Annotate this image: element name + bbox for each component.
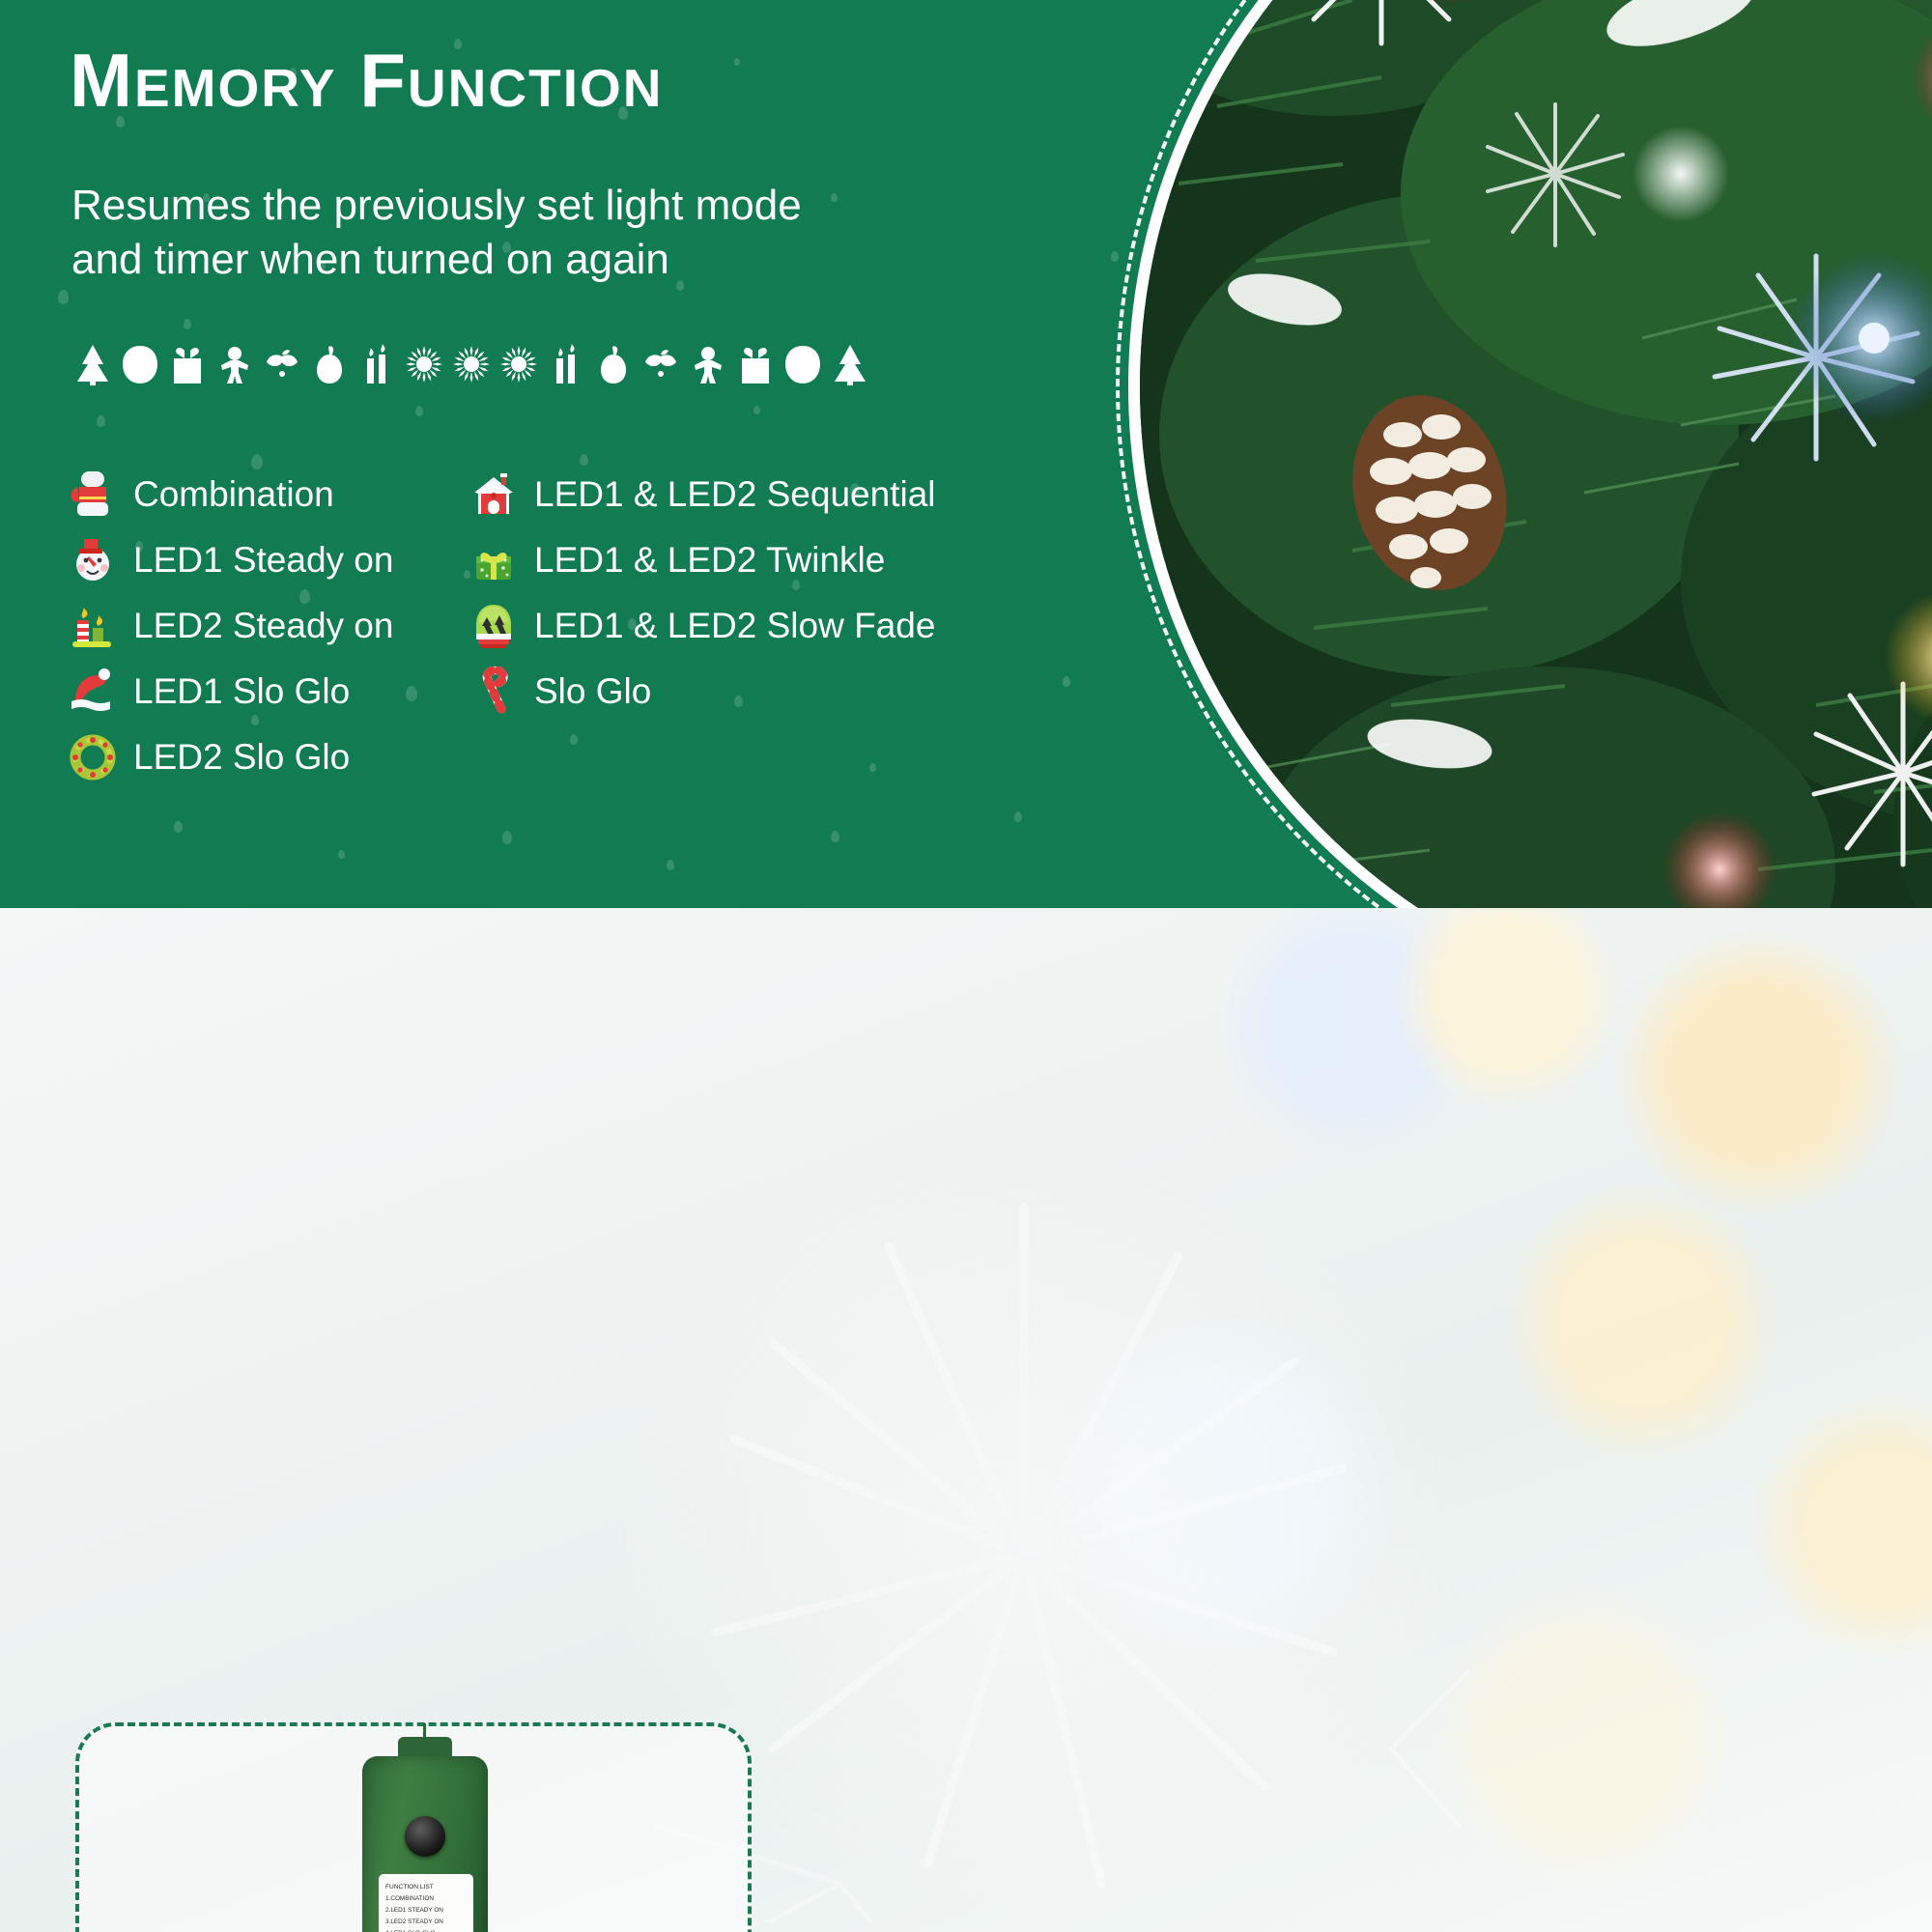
list-item-label: LED1 & LED2 Slow Fade: [534, 606, 935, 646]
candy-cane-icon: [469, 667, 519, 717]
light-controller-device: FUNCTION LIST1.COMBINATION2.LED1 STEADY …: [362, 1735, 488, 1932]
gingerbread-house-icon: [469, 469, 519, 520]
snowflake-icon: [497, 343, 540, 385]
list-item: LED1 Slo Glo: [68, 659, 469, 724]
controller-body: FUNCTION LIST1.COMBINATION2.LED1 STEADY …: [362, 1756, 488, 1932]
page-title: Memory Function: [70, 37, 663, 125]
light-mode-list: Combination LED1 & LED2 Sequential: [68, 462, 898, 790]
gingerbread-icon: [687, 343, 729, 385]
ornament-glyph-strip: [71, 343, 873, 385]
holly-icon: [639, 343, 682, 385]
wreath-icon: [119, 343, 161, 385]
gift-box-icon: [469, 535, 519, 585]
list-item: LED2 Slo Glo: [68, 724, 469, 790]
christmas-tree-photo: [1140, 0, 1932, 908]
tree-photo-art: [1140, 0, 1932, 908]
gingerbread-icon: [213, 343, 256, 385]
list-item: LED1 Steady on: [68, 527, 469, 593]
candles-icon: [68, 601, 118, 651]
function-list-title: FUNCTION LIST: [385, 1882, 473, 1893]
list-item-label: Combination: [133, 474, 334, 515]
tree-icon: [829, 343, 871, 385]
list-item: Combination: [68, 462, 469, 527]
bauble-icon: [308, 343, 351, 385]
mitten-icon: [68, 469, 118, 520]
candles-icon: [355, 343, 398, 385]
snowman-icon: [68, 535, 118, 585]
list-item-empty: [469, 724, 898, 790]
function-list-item: 1.COMBINATION: [385, 1893, 473, 1905]
page-subtitle: Resumes the previously set light mode an…: [71, 179, 873, 288]
santa-hat-icon: [68, 667, 118, 717]
holly-icon: [261, 343, 303, 385]
bauble-icon: [592, 343, 635, 385]
list-item-label: LED1 & LED2 Twinkle: [534, 540, 885, 581]
snow-globe-icon: [469, 601, 519, 651]
wreath-icon: [781, 343, 824, 385]
function-list-item: 3.LED2 STEADY ON: [385, 1917, 473, 1928]
snowflake-icon: [403, 343, 445, 385]
list-item: Slo Glo: [469, 659, 898, 724]
list-item: LED1 & LED2 Twinkle: [469, 527, 898, 593]
list-item-label: Slo Glo: [534, 671, 651, 712]
snowflake-icon: [450, 343, 493, 385]
list-item: LED1 & LED2 Slow Fade: [469, 593, 898, 659]
list-item: LED2 Steady on: [68, 593, 469, 659]
tree-icon: [71, 343, 114, 385]
controller-function-list-label: FUNCTION LIST1.COMBINATION2.LED1 STEADY …: [379, 1874, 473, 1932]
list-item-label: LED1 Slo Glo: [133, 671, 350, 712]
list-item-label: LED2 Steady on: [133, 606, 393, 646]
function-list-item: 2.LED1 STEADY ON: [385, 1905, 473, 1917]
list-item-label: LED1 Steady on: [133, 540, 393, 581]
wreath-icon: [68, 732, 118, 782]
list-item-label: LED1 & LED2 Sequential: [534, 474, 936, 515]
candles-icon: [545, 343, 587, 385]
gift-icon: [166, 343, 209, 385]
gift-icon: [734, 343, 777, 385]
function-list-item: 4.LED1 SLO-GLO: [385, 1928, 473, 1932]
controller-remote-panel: FUNCTION LIST1.COMBINATION2.LED1 STEADY …: [0, 908, 1932, 1932]
memory-function-panel: Memory Function Resumes the previously s…: [0, 0, 1932, 908]
list-item-label: LED2 Slo Glo: [133, 737, 350, 778]
controller-push-button[interactable]: [405, 1816, 445, 1857]
list-item: LED1 & LED2 Sequential: [469, 462, 898, 527]
